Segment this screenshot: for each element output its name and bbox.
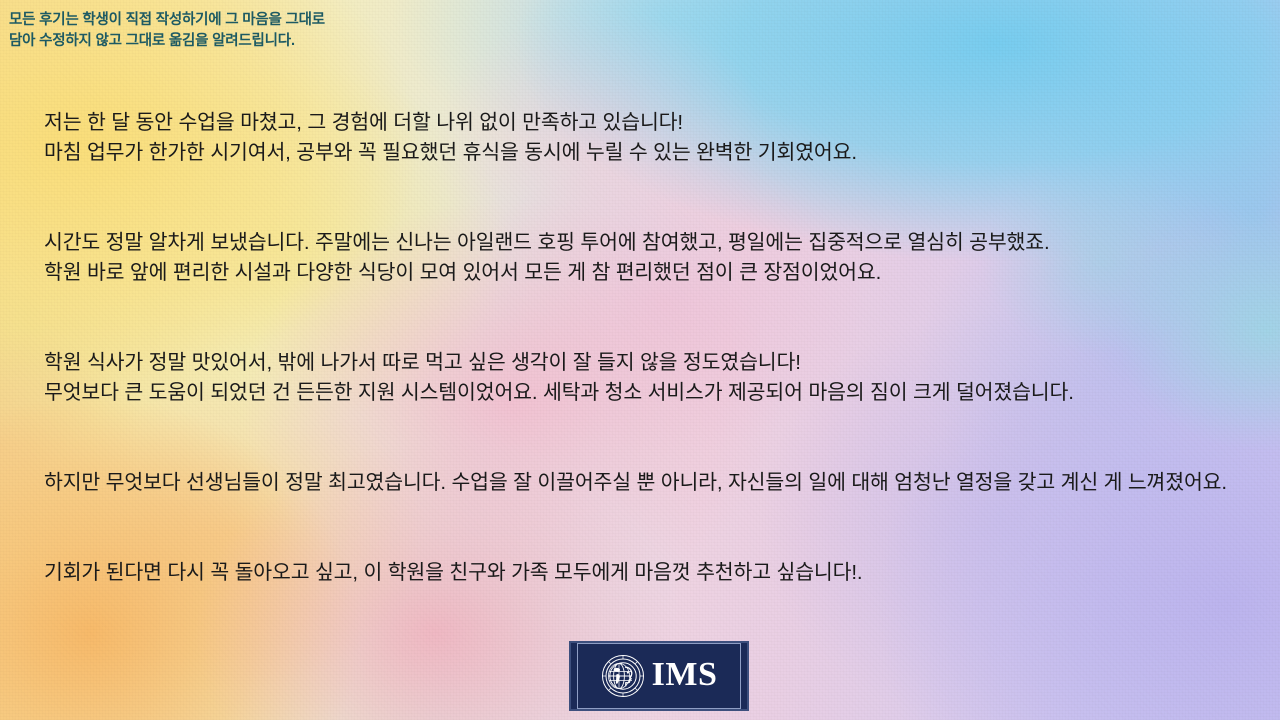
review-paragraph: 하지만 무엇보다 선생님들이 정말 최고였습니다. 수업을 잘 이끌어주실 뿐 …: [44, 468, 1259, 498]
slide-content: 모든 후기는 학생이 직접 작성하기에 그 마음을 그대로 담아 수정하지 않고…: [0, 0, 1280, 720]
review-slide: 모든 후기는 학생이 직접 작성하기에 그 마음을 그대로 담아 수정하지 않고…: [0, 0, 1280, 720]
globe-and-face-seal-icon: [601, 654, 645, 698]
review-paragraph: 저는 한 달 동안 수업을 마쳤고, 그 경험에 더할 나위 없이 만족하고 있…: [44, 108, 1259, 168]
ims-logo: IMS: [569, 641, 749, 711]
review-paragraph: 학원 식사가 정말 맛있어서, 밖에 나가서 따로 먹고 싶은 생각이 잘 들지…: [44, 348, 1259, 408]
ims-logo-frame: IMS: [577, 643, 741, 709]
ims-logo-text: IMS: [652, 658, 718, 692]
review-paragraph: 시간도 정말 알차게 보냈습니다. 주말에는 신나는 아일랜드 호핑 투어에 참…: [44, 228, 1259, 288]
student-review-body: 저는 한 달 동안 수업을 마쳤고, 그 경험에 더할 나위 없이 만족하고 있…: [44, 78, 1259, 618]
review-paragraph: 기회가 된다면 다시 꼭 돌아오고 싶고, 이 학원을 친구와 가족 모두에게 …: [44, 558, 1259, 588]
review-authenticity-notice: 모든 후기는 학생이 직접 작성하기에 그 마음을 그대로 담아 수정하지 않고…: [9, 10, 649, 52]
